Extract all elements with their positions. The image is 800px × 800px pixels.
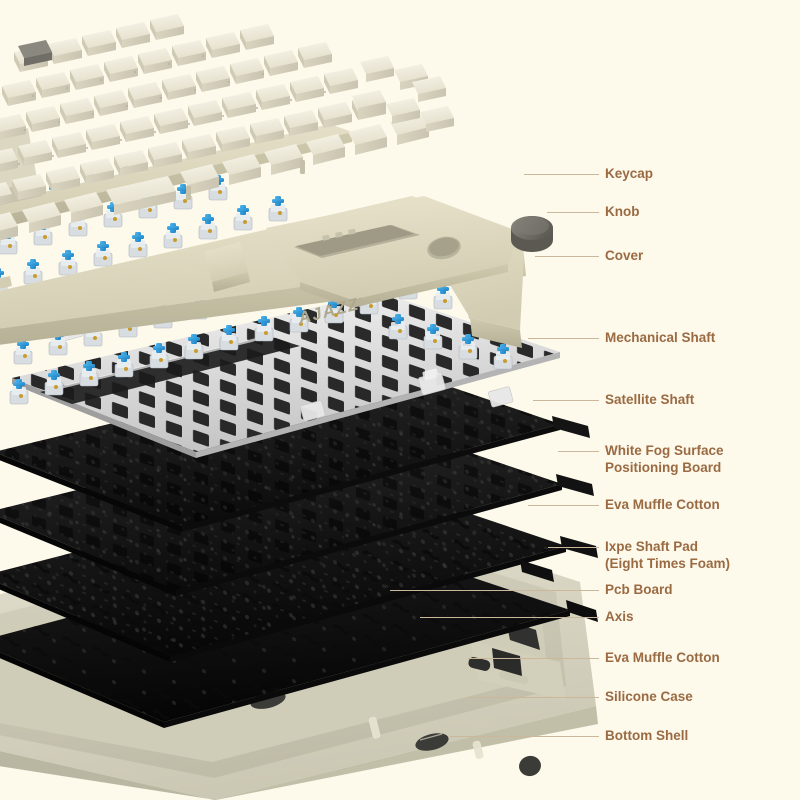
leader-line-cover [535, 256, 599, 257]
leader-line-satellite-shaft [533, 400, 599, 401]
diagram-canvas: Gasket Structure [0, 0, 800, 800]
callout-label-eva-muffle-cotton-bottom: Eva Muffle Cotton [605, 649, 720, 666]
leader-line-knob [547, 212, 599, 213]
callout-label-axis: Axis [605, 608, 634, 625]
leader-line-mechanical-shaft [528, 338, 599, 339]
callout-ixpe-shaft-pad: Ixpe Shaft Pad (Eight Times Foam) [605, 538, 730, 572]
callout-silicone-case: Silicone Case [605, 688, 693, 705]
leader-line-pcb-board [390, 590, 599, 591]
leader-line-bottom-shell [450, 736, 599, 737]
callout-keycap: Keycap [605, 165, 653, 182]
leader-line-axis [420, 617, 599, 618]
callout-eva-muffle-cotton-bottom: Eva Muffle Cotton [605, 649, 720, 666]
callout-mechanical-shaft: Mechanical Shaft [605, 329, 715, 346]
callout-label-positioning-board-line2: Positioning Board [605, 459, 724, 476]
callout-label-pcb-board: Pcb Board [605, 581, 673, 598]
callout-list: Keycap Knob Cover Mechanical Shaft Satel… [0, 0, 800, 800]
leader-line-eva-muffle-cotton-bottom [468, 658, 599, 659]
callout-label-mechanical-shaft: Mechanical Shaft [605, 329, 715, 346]
leader-line-positioning-board [558, 451, 599, 452]
callout-bottom-shell: Bottom Shell [605, 727, 688, 744]
callout-positioning-board: White Fog Surface Positioning Board [605, 442, 724, 476]
callout-knob: Knob [605, 203, 640, 220]
callout-eva-muffle-cotton-top: Eva Muffle Cotton [605, 496, 720, 513]
callout-label-positioning-board-line1: White Fog Surface [605, 442, 724, 459]
callout-axis: Axis [605, 608, 634, 625]
leader-line-eva-muffle-cotton-top [528, 505, 599, 506]
callout-label-ixpe-shaft-pad-line1: Ixpe Shaft Pad [605, 538, 730, 555]
leader-line-silicone-case [468, 697, 599, 698]
callout-cover: Cover [605, 247, 643, 264]
callout-label-ixpe-shaft-pad-line2: (Eight Times Foam) [605, 555, 730, 572]
callout-label-knob: Knob [605, 203, 640, 220]
callout-label-keycap: Keycap [605, 165, 653, 182]
leader-line-ixpe-shaft-pad [548, 547, 599, 548]
callout-label-silicone-case: Silicone Case [605, 688, 693, 705]
callout-label-satellite-shaft: Satellite Shaft [605, 391, 694, 408]
callout-label-eva-muffle-cotton-top: Eva Muffle Cotton [605, 496, 720, 513]
leader-line-keycap [524, 174, 599, 175]
callout-label-bottom-shell: Bottom Shell [605, 727, 688, 744]
callout-satellite-shaft: Satellite Shaft [605, 391, 694, 408]
callout-pcb-board: Pcb Board [605, 581, 673, 598]
callout-label-cover: Cover [605, 247, 643, 264]
